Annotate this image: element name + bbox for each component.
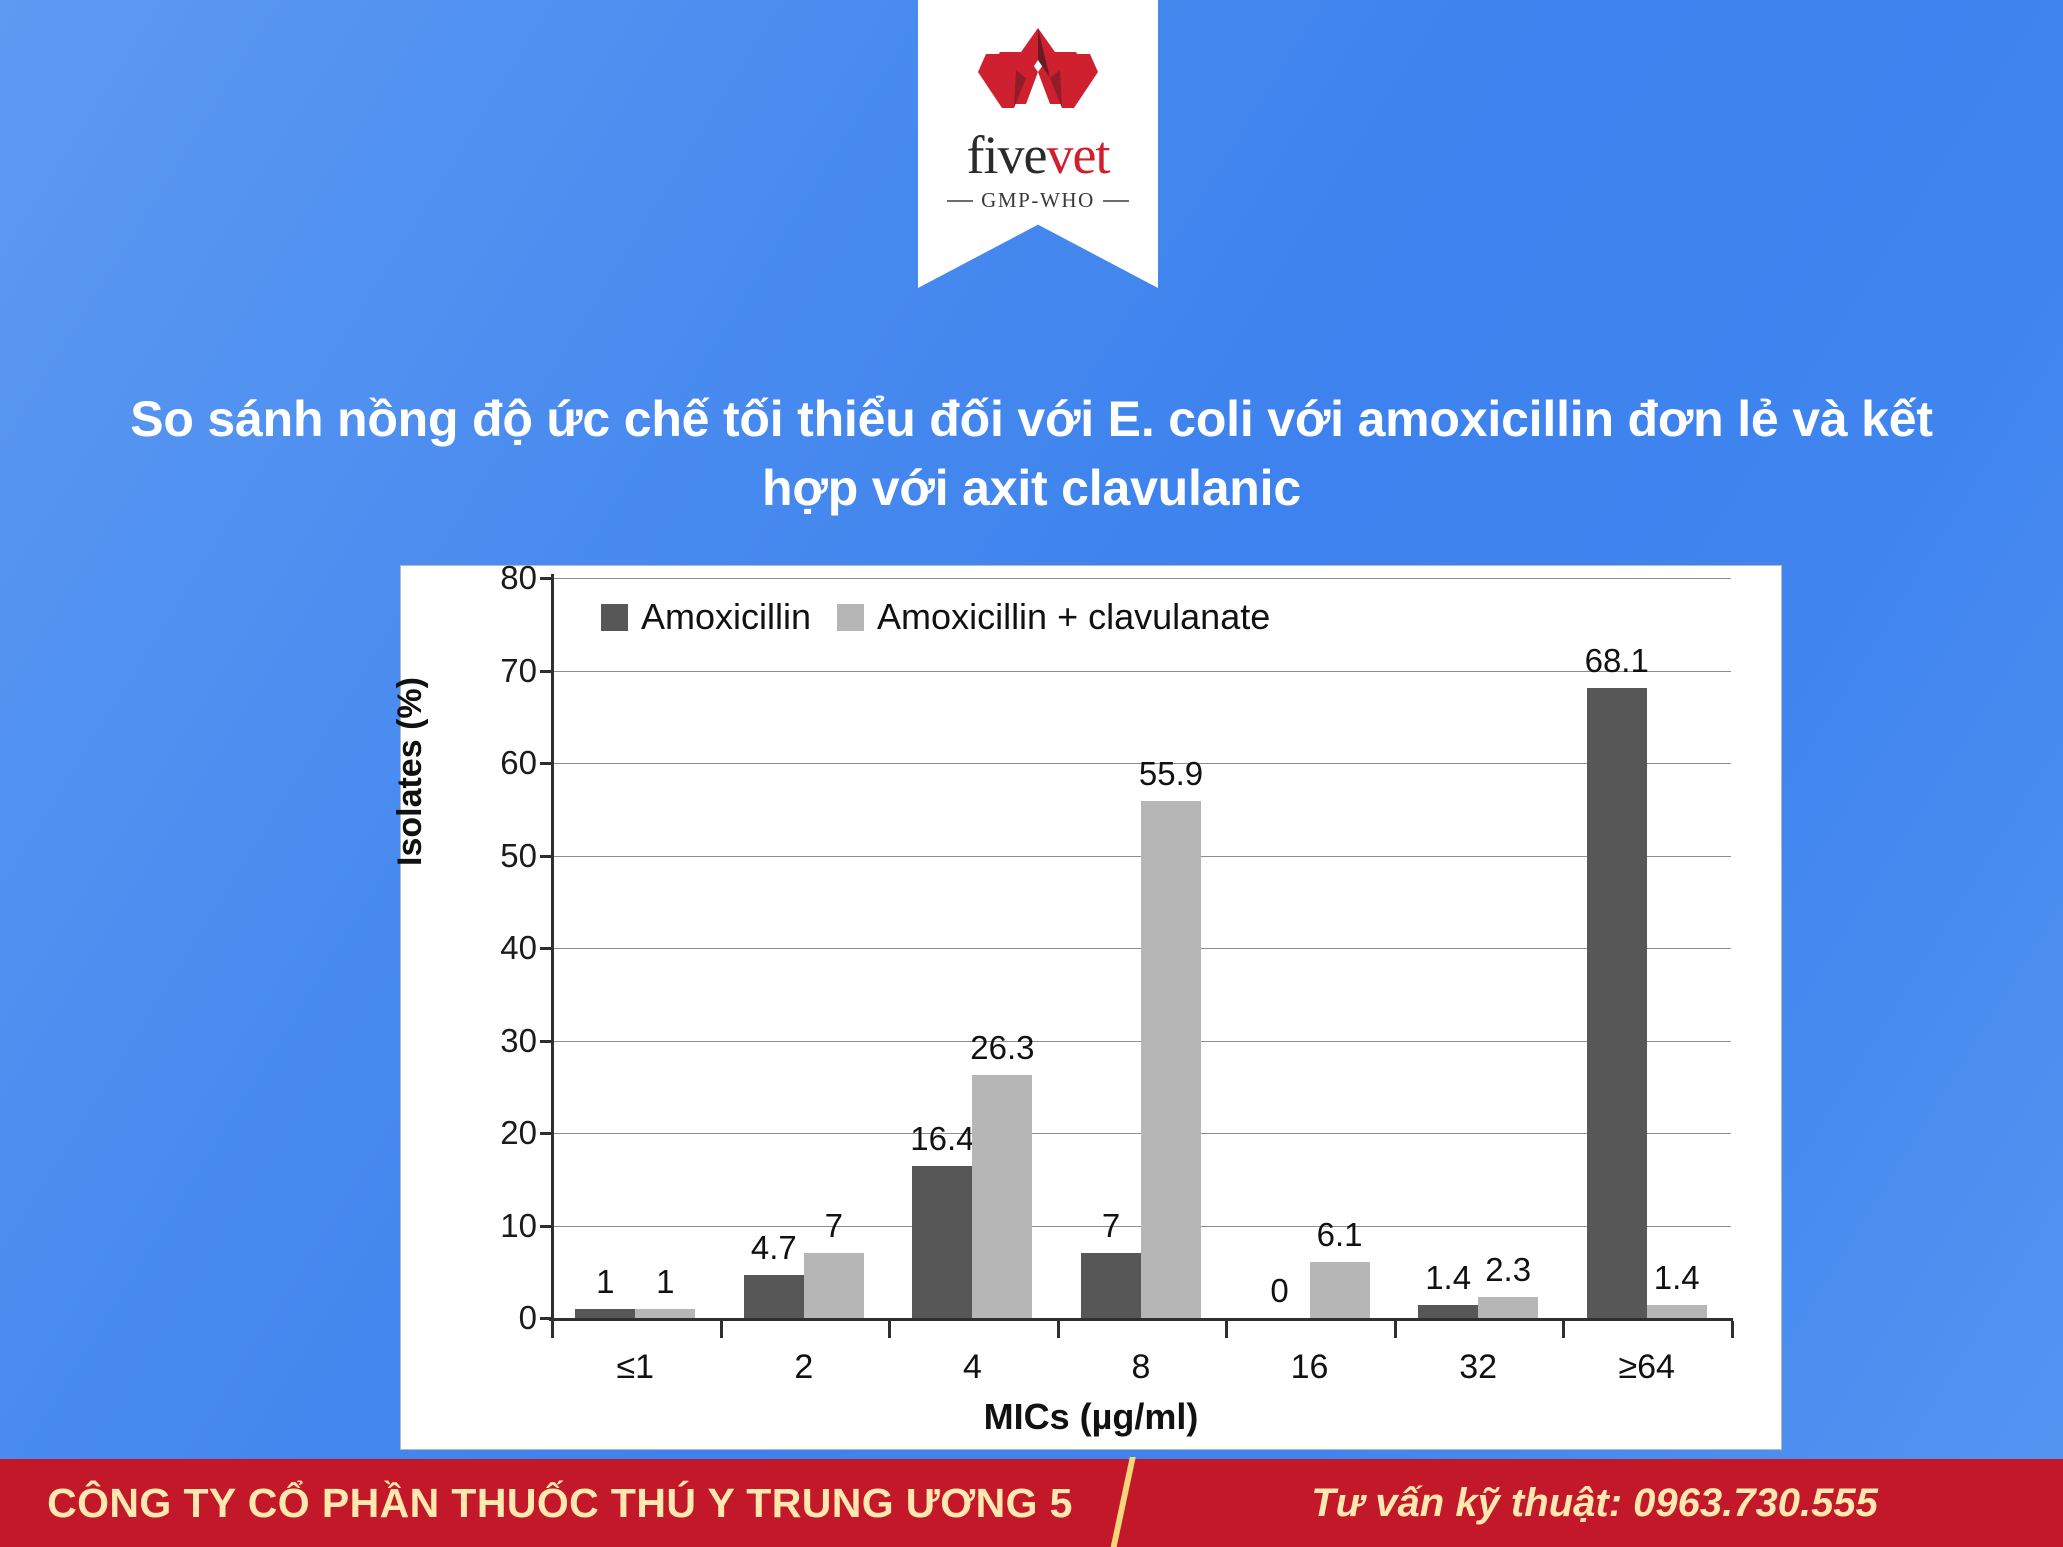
bar-item[interactable]: 7 [1081,1253,1141,1318]
y-tick-label: 50 [447,837,537,875]
brand-ribbon: fivevet GMP-WHO [918,0,1158,288]
x-tick-label: 32 [1398,1348,1558,1387]
bar [1310,1262,1370,1318]
y-tick-mark [540,577,554,580]
x-tick-mark [720,1321,723,1338]
y-tick-label: 80 [447,559,537,597]
bar-item[interactable]: 4.7 [744,1275,804,1318]
bar-chart: Isolates (%) MICs (µg/ml) AmoxicillinAmo… [401,566,1781,1449]
bar [1141,801,1201,1318]
y-tick-label: 10 [447,1207,537,1245]
plot-area: 114.7716.426.3755.906.11.42.368.11.4 [551,578,1731,1318]
slide-canvas: fivevet GMP-WHO So sánh nồng độ ức chế t… [0,0,2063,1547]
bar-value-label: 6.1 [1317,1216,1363,1254]
y-tick-mark [540,947,554,950]
bar-item[interactable]: 26.3 [972,1075,1032,1318]
bar-value-label: 4.7 [751,1229,797,1267]
bar [635,1309,695,1318]
slide-title: So sánh nồng độ ức chế tối thiểu đối với… [117,385,1947,523]
y-axis-label: Isolates (%) [391,677,430,866]
gridline [551,578,1731,579]
logo-wordmark: fivevet [967,128,1110,182]
bar [1081,1253,1141,1318]
bar-value-label: 1 [596,1263,614,1301]
x-tick-label: 16 [1230,1348,1390,1387]
logo-subtitle: GMP-WHO [947,188,1129,213]
bar-group: 4.77 [742,1253,866,1318]
bar-value-label: 16.4 [910,1120,974,1158]
slide-title-line1: So sánh nồng độ ức chế tối thiểu đối với… [130,391,1778,447]
bar-item[interactable]: 1 [635,1309,695,1318]
bar-value-label: 2.3 [1485,1251,1531,1289]
y-tick-mark [540,1225,554,1228]
x-tick-label: ≥64 [1567,1348,1727,1387]
x-tick-mark [1225,1321,1228,1338]
bar-group: 11 [573,1309,697,1318]
bar [575,1309,635,1318]
x-axis-label: MICs (µg/ml) [401,1396,1781,1438]
bar-group: 06.1 [1248,1262,1372,1318]
y-tick-label: 30 [447,1022,537,1060]
footer-bar: CÔNG TY CỔ PHẦN THUỐC THÚ Y TRUNG ƯƠNG 5… [0,1459,2063,1547]
x-tick-mark [1731,1321,1734,1338]
gridline [551,671,1731,672]
x-tick-mark [1562,1321,1565,1338]
logo-rule-right [1103,200,1129,202]
y-tick-label: 20 [447,1114,537,1152]
x-tick-mark [1394,1321,1397,1338]
logo-word-five: five [967,125,1047,185]
bar-item[interactable]: 16.4 [912,1166,972,1318]
y-tick-mark [540,1132,554,1135]
bar-item[interactable]: 68.1 [1587,688,1647,1318]
logo-word-vet: vet [1046,125,1109,185]
bar-item[interactable]: 7 [804,1253,864,1318]
y-tick-mark [540,855,554,858]
bar [912,1166,972,1318]
y-tick-mark [540,1040,554,1043]
logo-rule-left [947,200,973,202]
x-tick-label: ≤1 [555,1348,715,1387]
bar-item[interactable]: 2.3 [1478,1297,1538,1318]
bar-value-label: 68.1 [1585,642,1649,680]
chart-card: Isolates (%) MICs (µg/ml) AmoxicillinAmo… [400,565,1782,1450]
bar [1647,1305,1707,1318]
x-tick-label: 8 [1061,1348,1221,1387]
bar-value-label: 55.9 [1139,755,1203,793]
bar [744,1275,804,1318]
bar-item[interactable]: 6.1 [1310,1262,1370,1318]
bar-item[interactable]: 1.4 [1418,1305,1478,1318]
logo-subtitle-text: GMP-WHO [981,188,1095,213]
bar-item[interactable]: 55.9 [1141,801,1201,1318]
x-tick-mark [1057,1321,1060,1338]
fivevet-crown-icon [976,26,1100,124]
bar-group: 16.426.3 [910,1075,1034,1318]
x-axis-line [549,1318,1733,1321]
y-tick-label: 40 [447,929,537,967]
y-tick-label: 60 [447,744,537,782]
bar-group: 1.42.3 [1416,1297,1540,1318]
bar-value-label: 0 [1270,1272,1288,1310]
bar-value-label: 1.4 [1654,1259,1700,1297]
bar [804,1253,864,1318]
y-tick-mark [540,670,554,673]
bar [1418,1305,1478,1318]
x-tick-label: 2 [724,1348,884,1387]
bar-group: 755.9 [1079,801,1203,1318]
x-tick-mark [551,1321,554,1338]
y-tick-label: 70 [447,652,537,690]
bar [1478,1297,1538,1318]
bar-value-label: 1.4 [1425,1259,1471,1297]
bar-value-label: 1 [656,1263,674,1301]
footer-company-name: CÔNG TY CỔ PHẦN THUỐC THÚ Y TRUNG ƯƠNG 5 [0,1480,1120,1527]
y-tick-mark [540,1317,554,1320]
footer-hotline: Tư vấn kỹ thuật: 0963.730.555 [1126,1481,2063,1526]
x-tick-label: 4 [892,1348,1052,1387]
y-tick-label: 0 [447,1299,537,1337]
bar-value-label: 7 [825,1207,843,1245]
bar-item[interactable]: 1 [575,1309,635,1318]
bar [1587,688,1647,1318]
bar [972,1075,1032,1318]
y-tick-mark [540,762,554,765]
bar-value-label: 26.3 [970,1029,1034,1067]
x-tick-mark [888,1321,891,1338]
bar-item[interactable]: 1.4 [1647,1305,1707,1318]
bar-value-label: 7 [1102,1207,1120,1245]
bar-group: 68.11.4 [1585,688,1709,1318]
